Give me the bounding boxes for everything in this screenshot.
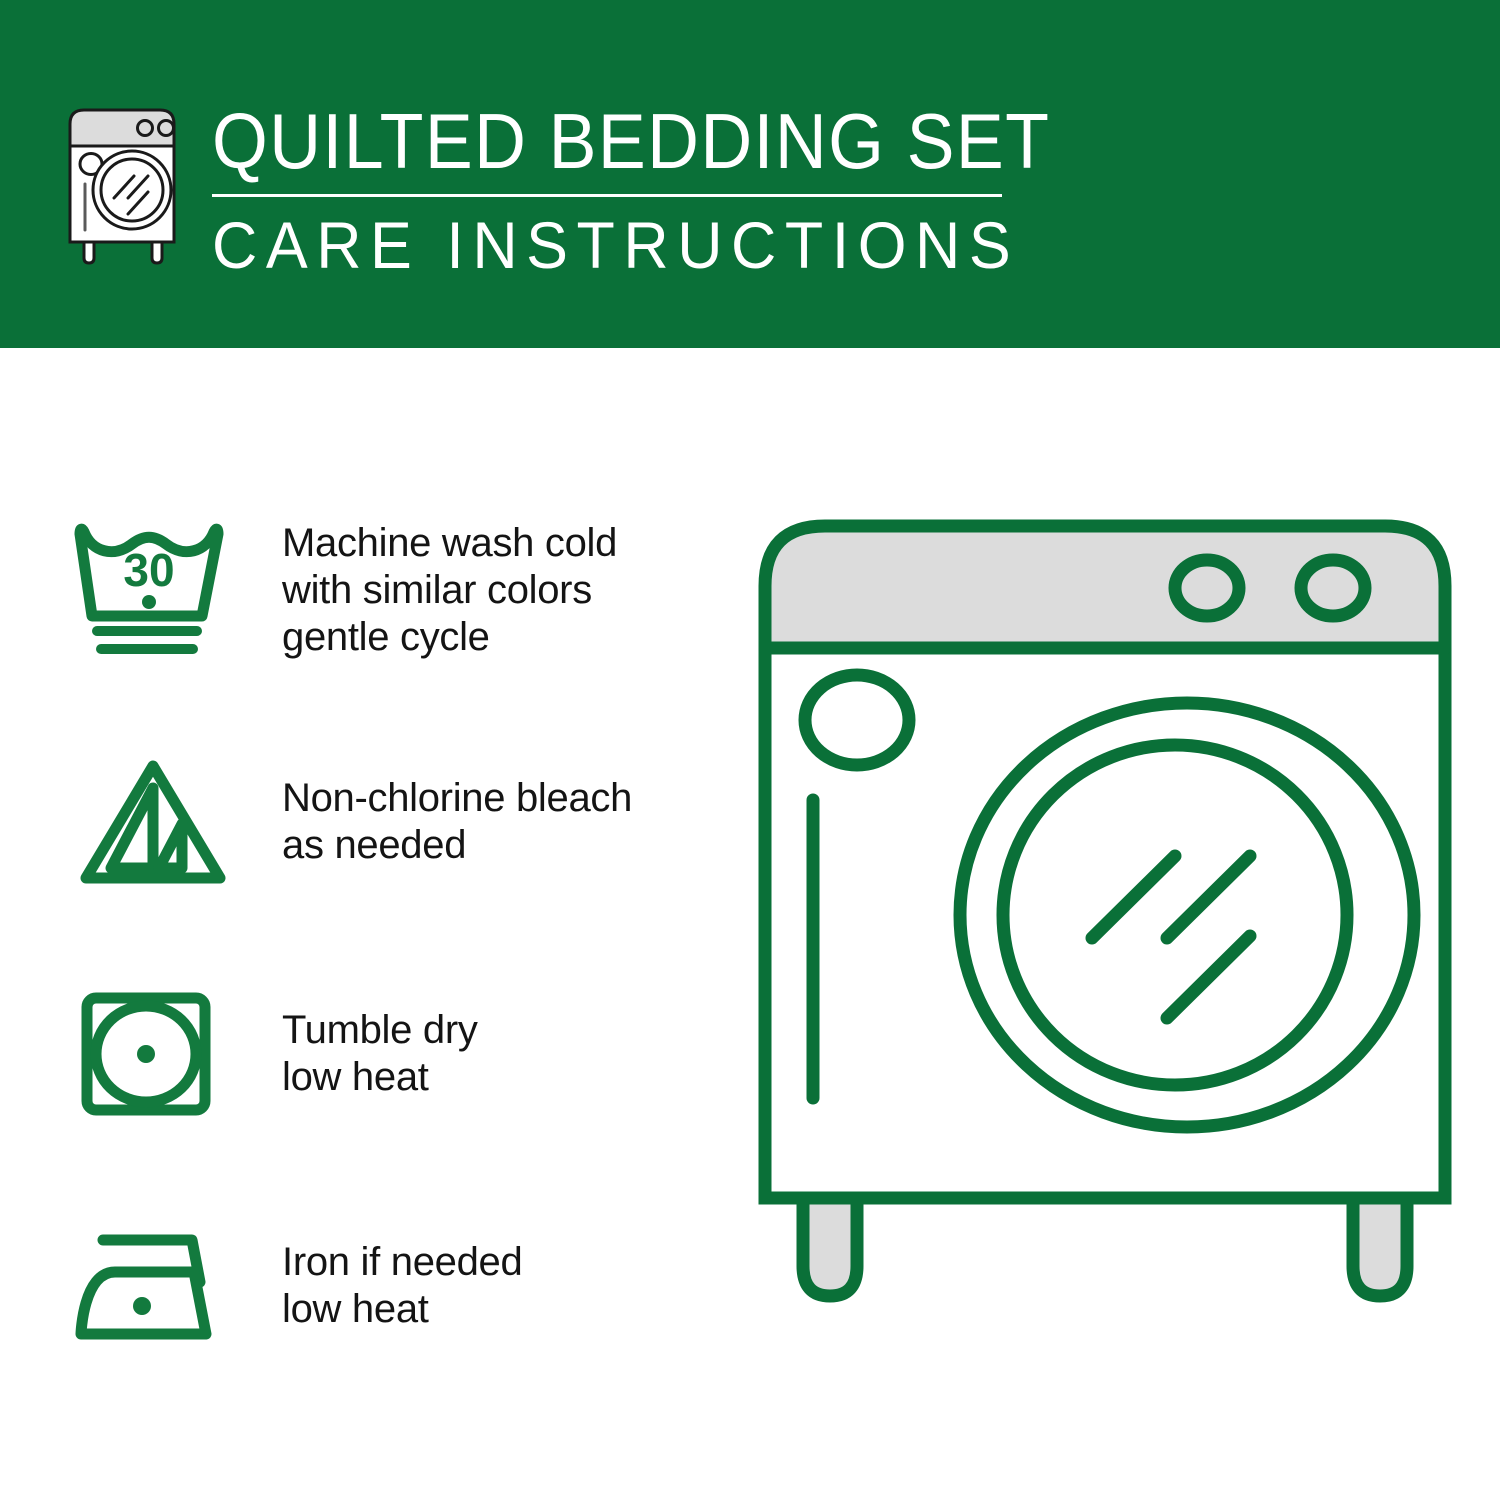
care-line: Non-chlorine bleach [282, 775, 632, 822]
machine-leg-right [1353, 1198, 1407, 1296]
control-knob-left [1175, 560, 1239, 616]
header-titles: QUILTED BEDDING SET CARE INSTRUCTIONS [212, 98, 1123, 281]
care-line: low heat [282, 1054, 478, 1101]
care-line: with similar colors [282, 567, 617, 614]
wash-basin-30-icon: 30 [70, 520, 236, 660]
care-row-bleach: Non-chlorine bleach as needed [70, 732, 710, 912]
care-text-bleach: Non-chlorine bleach as needed [282, 775, 632, 869]
tumble-dry-low-icon [70, 984, 236, 1124]
front-load-washing-machine-illustration [735, 498, 1475, 1438]
care-text-iron: Iron if needed low heat [282, 1239, 522, 1333]
care-symbol-slot [70, 1209, 240, 1364]
washing-machine-illustration [735, 498, 1475, 1438]
care-line: Iron if needed [282, 1239, 522, 1286]
care-text-tumble-dry: Tumble dry low heat [282, 1007, 478, 1101]
non-chlorine-bleach-triangle-icon [70, 752, 236, 892]
care-line: Tumble dry [282, 1007, 478, 1054]
header-content: QUILTED BEDDING SET CARE INSTRUCTIONS [62, 98, 1123, 281]
care-symbol-slot [70, 745, 240, 900]
care-line: Machine wash cold [282, 520, 617, 567]
wash-temp-label: 30 [123, 544, 174, 596]
washing-machine-icon [62, 102, 190, 268]
care-symbol-slot [70, 977, 240, 1132]
iron-low-heat-icon [70, 1216, 236, 1356]
indicator-button [805, 675, 909, 765]
care-instruction-list: 30 Machine wash cold with similar colors… [70, 500, 710, 1376]
care-line: low heat [282, 1286, 522, 1333]
door-inner-ring [1003, 745, 1347, 1085]
page-title: QUILTED BEDDING SET [212, 98, 1050, 184]
content-area: 30 Machine wash cold with similar colors… [0, 348, 1500, 1500]
care-line: as needed [282, 822, 632, 869]
care-row-tumble-dry: Tumble dry low heat [70, 964, 710, 1144]
care-row-iron: Iron if needed low heat [70, 1196, 710, 1376]
header-banner: QUILTED BEDDING SET CARE INSTRUCTIONS [0, 0, 1500, 348]
care-line: gentle cycle [282, 614, 617, 661]
machine-leg-left [803, 1198, 857, 1296]
title-divider [212, 194, 1002, 197]
control-knob-right [1301, 560, 1365, 616]
care-row-machine-wash: 30 Machine wash cold with similar colors… [70, 500, 710, 680]
care-text-machine-wash: Machine wash cold with similar colors ge… [282, 520, 617, 661]
care-symbol-slot: 30 [70, 513, 240, 668]
page-subtitle: CARE INSTRUCTIONS [212, 209, 1078, 281]
